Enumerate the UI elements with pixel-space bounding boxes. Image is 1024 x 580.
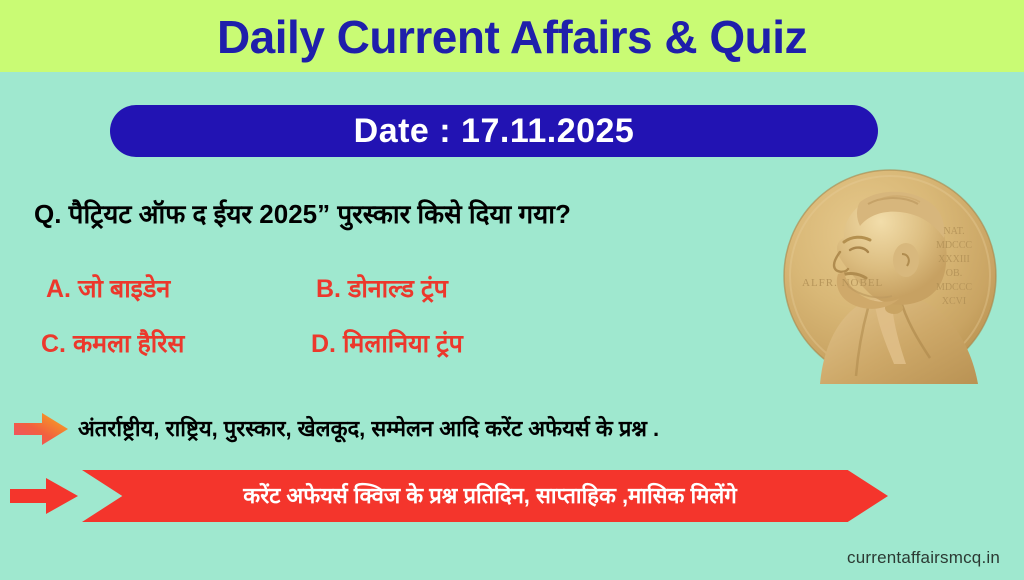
bottom-banner-row: करेंट अफेयर्स क्विज के प्रश्न प्रतिदिन, … [8, 470, 1018, 522]
medal-inscription-ob: OB. [946, 268, 962, 279]
note-text: अंतर्राष्ट्रीय, राष्ट्रिय, पुरस्कार, खेल… [78, 416, 659, 442]
right-arrow-red-icon [8, 476, 80, 516]
medal-inscription-mdccc-1: MDCCC [936, 240, 972, 251]
nobel-prize-medal: ALFR. NOBEL NAT. MDCCC XXXIII OB. MDCCC … [782, 168, 998, 384]
bottom-banner: करेंट अफेयर्स क्विज के प्रश्न प्रतिदिन, … [82, 470, 888, 522]
medal-inscription-xxxiii: XXXIII [938, 254, 970, 265]
option-d[interactable]: D. मिलानिया ट्रंप [311, 329, 611, 359]
option-b[interactable]: B. डोनाल्ड ट्रंप [316, 274, 616, 304]
options-row-1: A. जो बाइडेन B. डोनाल्ड ट्रंप [36, 274, 796, 304]
date-banner: Date : 17.11.2025 [110, 105, 878, 157]
header-band: Daily Current Affairs & Quiz [0, 0, 1024, 72]
right-arrow-gradient-icon [12, 410, 70, 448]
bottom-banner-text: करेंट अफेयर्स क्विज के प्रश्न प्रतिदिन, … [233, 483, 736, 509]
watermark: currentaffairsmcq.in [847, 548, 1000, 568]
date-text: Date : 17.11.2025 [354, 114, 635, 148]
note-line: अंतर्राष्ट्रीय, राष्ट्रिय, पुरस्कार, खेल… [12, 410, 1012, 448]
question-text: Q. पैट्रियट ऑफ द ईयर 2025” पुरस्कार किसे… [34, 198, 794, 231]
option-c[interactable]: C. कमला हैरिस [36, 329, 311, 359]
medal-inscription-left-1: ALFR. NOBEL [802, 277, 883, 289]
medal-inscription-nat: NAT. [943, 226, 964, 237]
nobel-medal-svg: ALFR. NOBEL NAT. MDCCC XXXIII OB. MDCCC … [782, 168, 998, 384]
options-row-2: C. कमला हैरिस D. मिलानिया ट्रंप [36, 329, 796, 359]
medal-inscription-xcvi: XCVI [942, 296, 966, 307]
medal-inscription-mdccc-2: MDCCC [936, 282, 972, 293]
page-title: Daily Current Affairs & Quiz [217, 14, 807, 60]
option-a[interactable]: A. जो बाइडेन [36, 274, 316, 304]
quiz-poster: Daily Current Affairs & Quiz Date : 17.1… [0, 0, 1024, 580]
